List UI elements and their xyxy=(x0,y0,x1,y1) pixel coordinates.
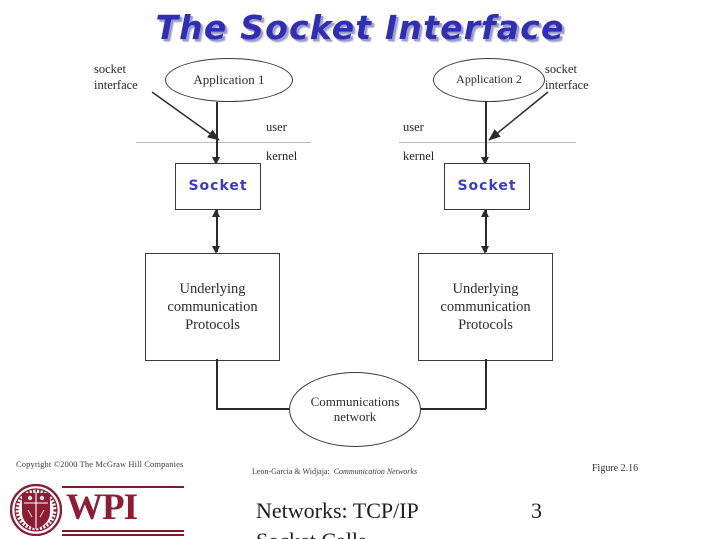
communications-network-label: Communications network xyxy=(311,395,400,425)
user-kernel-boundary-right xyxy=(399,142,576,143)
protocols-label-left-line1: Underlying xyxy=(179,281,245,297)
user-label-left: user xyxy=(266,120,287,136)
protocols-label-left-line3: Protocols xyxy=(185,317,240,333)
protocols-label-right-line1: Underlying xyxy=(452,281,518,297)
protocols-box-right: Underlying communication Protocols xyxy=(418,253,553,361)
socket-interface-label-left-line1: socket xyxy=(94,62,126,76)
socket-label-right: Socket xyxy=(457,178,516,196)
socket-box-left: Socket xyxy=(175,163,261,210)
kernel-label-right: kernel xyxy=(403,149,434,165)
communications-network-line1: Communications xyxy=(311,394,400,409)
application-2-label: Application 2 xyxy=(456,73,522,87)
socket-interface-label-left-line2: interface xyxy=(94,78,138,92)
protocols-box-left: Underlying communication Protocols xyxy=(145,253,280,361)
protocols-label-right: Underlying communication Protocols xyxy=(440,280,530,334)
user-label-right: user xyxy=(403,120,424,136)
protocols-label-left: Underlying communication Protocols xyxy=(167,280,257,334)
book-credit-title: Communication Networks xyxy=(334,467,417,476)
socket-label-left: Socket xyxy=(188,178,247,196)
figure-number: Figure 2.16 xyxy=(592,463,638,474)
deck-title: Networks: TCP/IP xyxy=(256,498,419,524)
socket-interface-label-right: socket interface xyxy=(545,62,605,93)
socket-interface-label-right-line2: interface xyxy=(545,78,589,92)
app1-to-socket-line xyxy=(216,102,218,160)
protocols-network-vline-left xyxy=(216,359,218,409)
protocols-label-right-line3: Protocols xyxy=(458,317,513,333)
page-title: The Socket Interface xyxy=(0,8,720,47)
wpi-seal-icon xyxy=(10,484,62,536)
book-credit-authors: Leon-Garcia & Widjaja: xyxy=(252,467,330,476)
protocols-label-right-line2: communication xyxy=(440,299,530,315)
socket-interface-label-left: socket interface xyxy=(94,62,154,93)
socket-interface-label-right-line1: socket xyxy=(545,62,577,76)
wpi-logo-rule-bottom2 xyxy=(62,534,184,536)
book-credit: Leon-Garcia & Widjaja: Communication Net… xyxy=(252,467,417,476)
protocols-label-left-line2: communication xyxy=(167,299,257,315)
kernel-label-left: kernel xyxy=(266,149,297,165)
wpi-logo: WPI xyxy=(10,482,185,539)
communications-network-line2: network xyxy=(334,409,377,424)
application-2-ellipse: Application 2 xyxy=(433,58,545,102)
application-1-label: Application 1 xyxy=(193,73,264,88)
protocols-network-vline-right xyxy=(485,359,487,409)
socket-protocols-arrowhead-up-right xyxy=(481,209,489,217)
application-1-ellipse: Application 1 xyxy=(165,58,293,102)
wpi-logo-rule-bottom xyxy=(62,530,184,532)
app2-to-socket-line xyxy=(485,102,487,160)
slide-canvas: The Socket Interface socket interface Ap… xyxy=(0,0,720,539)
user-kernel-boundary-left xyxy=(136,142,311,143)
page-number: 3 xyxy=(531,498,542,524)
copyright-notice: Copyright ©2000 The McGraw Hill Companie… xyxy=(16,459,183,469)
socket-box-right: Socket xyxy=(444,163,530,210)
deck-subtitle: Socket Calls xyxy=(256,528,367,539)
communications-network-ellipse: Communications network xyxy=(289,372,421,447)
socket-protocols-arrowhead-up-left xyxy=(212,209,220,217)
wpi-logo-text: WPI xyxy=(66,488,137,528)
